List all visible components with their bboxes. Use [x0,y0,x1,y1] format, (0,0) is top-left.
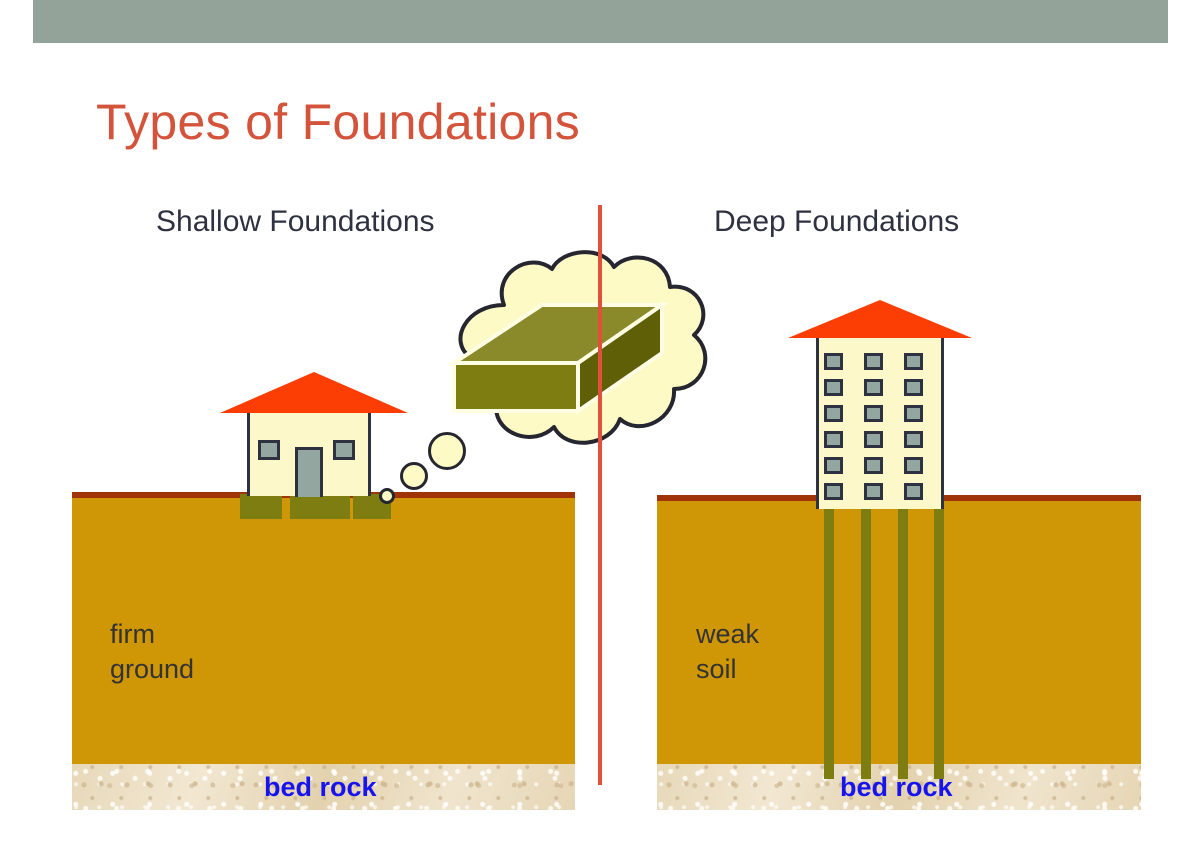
column-heading-shallow: Shallow Foundations [156,203,435,241]
house-roof-icon [220,372,408,413]
thought-bubble-dot-2 [400,462,428,490]
soil-label-right-line2: soil [696,652,759,687]
tower-window-r4-c2 [864,431,883,448]
tower-window-r6-c3 [904,483,923,500]
thought-cloud [426,247,716,462]
house-illustration [180,360,440,520]
tower-window-r6-c2 [864,483,883,500]
tower-window-r6-c1 [824,483,843,500]
house-window-left [258,440,280,460]
soil-label-left-line1: firm [110,617,194,652]
tower-window-r4-c3 [904,431,923,448]
header-band [33,0,1168,43]
tower-window-r1-c1 [824,353,843,370]
house-window-right [333,440,355,460]
pile-4 [934,497,944,779]
tower-roof-icon [788,300,972,338]
tower-window-r1-c2 [864,353,883,370]
tower-window-r5-c1 [824,457,843,474]
tower-window-r5-c2 [864,457,883,474]
tower-window-r4-c1 [824,431,843,448]
page-title: Types of Foundations [96,93,580,151]
house-door [295,447,323,497]
soil-label-left: firm ground [110,617,194,687]
tower-window-r3-c2 [864,405,883,422]
tower-window-r2-c2 [864,379,883,396]
tower-window-r3-c3 [904,405,923,422]
soil-label-right-line1: weak [696,617,759,652]
thought-bubble-dot-1 [379,488,395,504]
soil-label-left-line2: ground [110,652,194,687]
bedrock-label-left: bed rock [264,771,377,803]
tower-window-r5-c3 [904,457,923,474]
slide-canvas: Types of Foundations Shallow Foundations… [0,0,1200,849]
pile-2 [861,497,871,779]
tower-window-r2-c3 [904,379,923,396]
tower-window-r1-c3 [904,353,923,370]
tower-window-r3-c1 [824,405,843,422]
soil-label-right: weak soil [696,617,759,687]
tower-illustration [780,290,1000,520]
column-heading-deep: Deep Foundations [714,203,959,241]
pile-1 [824,497,834,779]
tower-window-r2-c1 [824,379,843,396]
pile-3 [898,497,908,779]
column-divider [598,205,602,785]
